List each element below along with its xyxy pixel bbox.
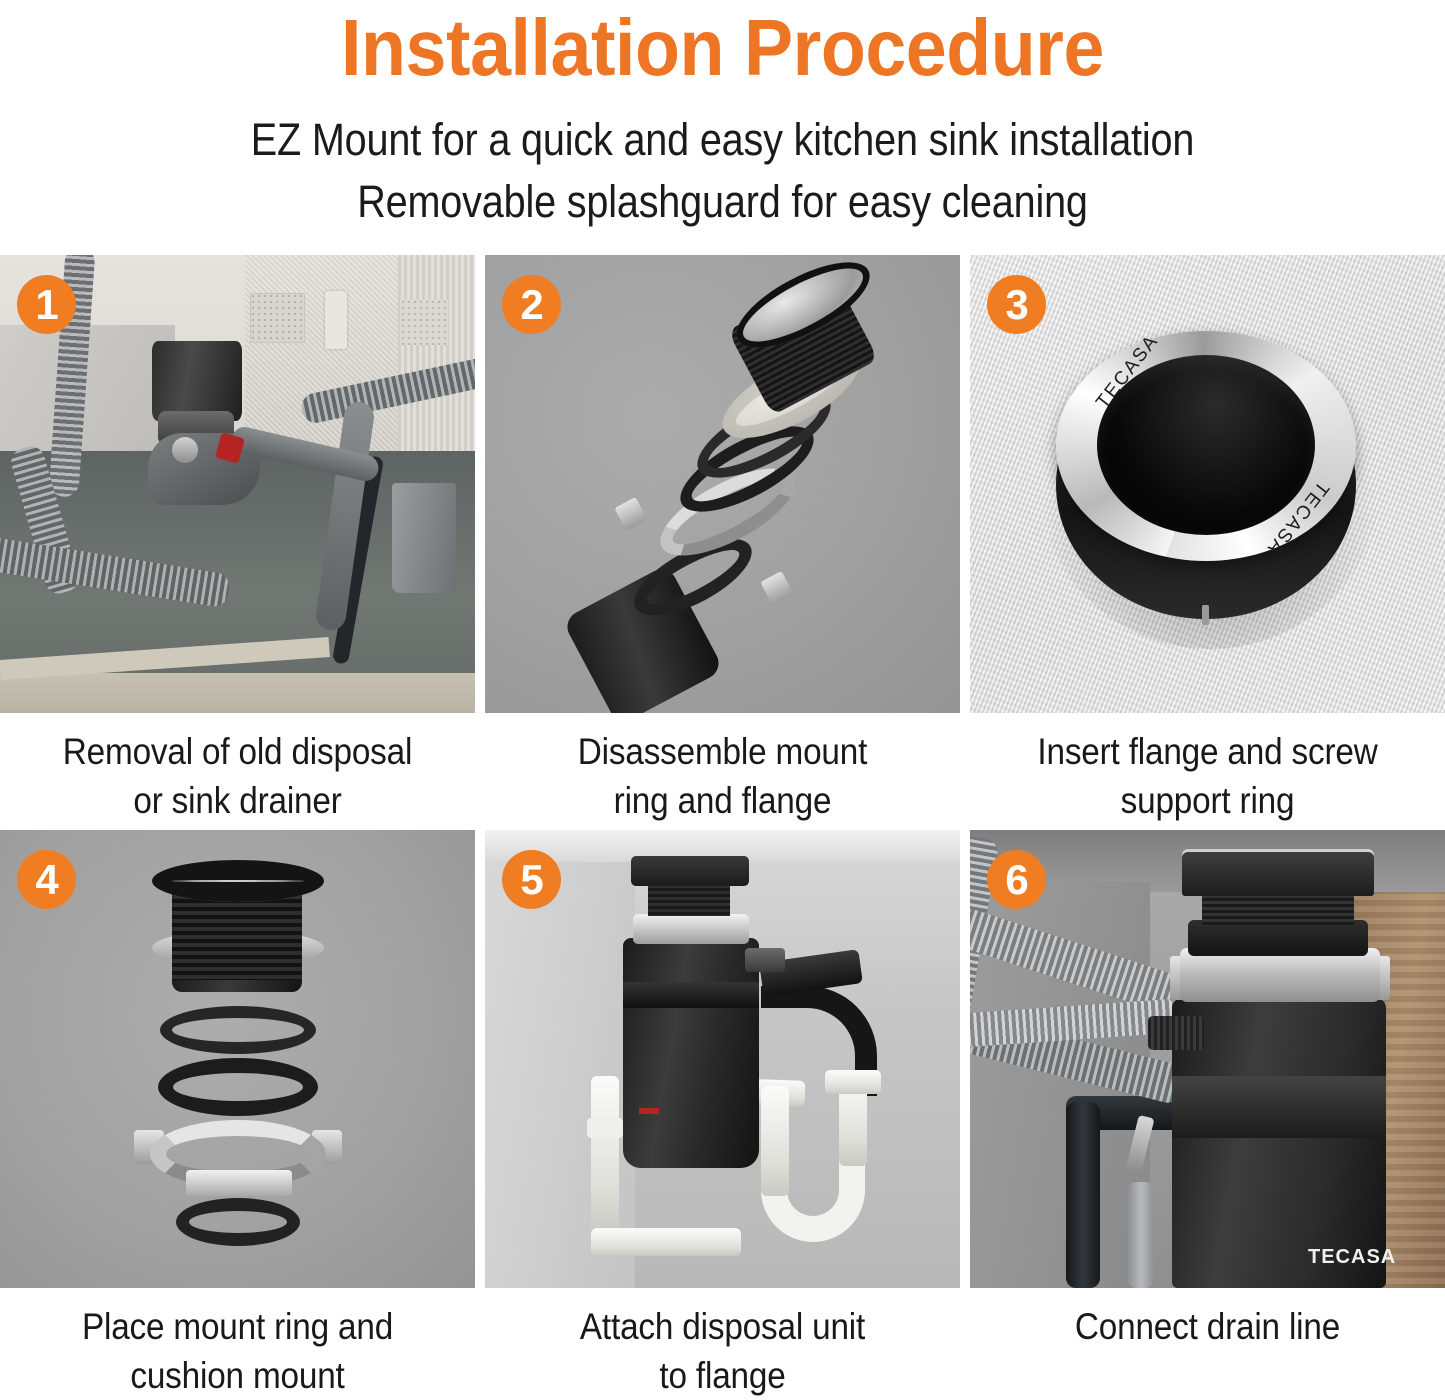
step-caption-3: Insert flange and screw support ring [994, 727, 1422, 825]
photo6-gray-pipe [1128, 1182, 1154, 1288]
photo3-screw [1202, 605, 1209, 625]
photo4-backup-ring [158, 1058, 318, 1116]
step-card-1: 1 Removal of old disposal or sink draine… [0, 255, 475, 830]
header: Installation Procedure EZ Mount for a qu… [0, 0, 1445, 231]
step-photo-2: 2 [485, 255, 960, 713]
subtitle-line-2: Removable splashguard for easy cleaning [87, 173, 1359, 231]
photo6-inlet-port [1148, 1016, 1204, 1050]
step-card-2: 2 Disassemble mount ring and flange [485, 255, 960, 830]
photo5-mount-clamp [633, 914, 749, 944]
photo1-vent-plate-2 [400, 299, 448, 345]
photo1-vent-plate [250, 293, 305, 343]
step-caption-2: Disassemble mount ring and flange [509, 727, 937, 825]
step-photo-4: 4 [0, 830, 475, 1288]
step-card-6: TECASA 6 Connect drain line [970, 830, 1445, 1380]
step-caption-5-line-2: to flange [509, 1351, 937, 1400]
photo5-disposal-outlet [745, 948, 785, 972]
photo5-trap-inlet [761, 1086, 789, 1196]
step-card-3: TECASA TECASA 3 Insert flange and screw … [970, 255, 1445, 830]
step-photo-6: TECASA 6 [970, 830, 1445, 1288]
photo1-old-disposal [152, 341, 242, 421]
photo5-white-pipe-horizontal [591, 1228, 741, 1256]
step-badge-6: 6 [987, 850, 1046, 909]
photo6-thread-section [1202, 892, 1354, 926]
step-photo-3: TECASA TECASA 3 [970, 255, 1445, 713]
step-caption-1-line-2: or sink drainer [24, 776, 452, 825]
photo6-black-pipe-vertical [1066, 1102, 1100, 1288]
photo6-disposal-top-collar [1182, 852, 1374, 896]
photo5-disposal-neck [648, 882, 730, 916]
photo6-brand-label: TECASA [1308, 1246, 1396, 1269]
step-badge-1: 1 [17, 275, 76, 334]
step-badge-3: 3 [987, 275, 1046, 334]
subtitle-line-1: EZ Mount for a quick and easy kitchen si… [87, 111, 1359, 169]
step-caption-1-line-1: Removal of old disposal [63, 731, 412, 772]
step-caption-4-line-2: cushion mount [24, 1351, 452, 1400]
step-photo-5: 5 [485, 830, 960, 1288]
photo5-disposal-top-collar [631, 856, 749, 886]
photo1-bucket [392, 483, 456, 593]
photo6-disposal-body [1172, 998, 1386, 1288]
step-badge-2: 2 [502, 275, 561, 334]
photo1-wood-base [0, 673, 475, 713]
step-photo-1: 1 [0, 255, 475, 713]
step-caption-5-line-1: Attach disposal unit [580, 1306, 865, 1347]
photo6-mount-ring [1180, 948, 1380, 1002]
step-badge-5: 5 [502, 850, 561, 909]
page-title: Installation Procedure [58, 2, 1387, 94]
step-caption-2-line-2: ring and flange [509, 776, 937, 825]
photo5-pipe-collar [587, 1118, 623, 1138]
photo6-disposal-band [1172, 1076, 1386, 1138]
step-caption-5: Attach disposal unit to flange [509, 1302, 937, 1400]
step-badge-4: 4 [17, 850, 76, 909]
photo4-cushion-mount [176, 1198, 300, 1246]
photo5-trap-coupling [825, 1070, 881, 1094]
photo5-disposal-ridge [623, 982, 759, 1008]
step-caption-3-line-2: support ring [994, 776, 1422, 825]
steps-grid: 1 Removal of old disposal or sink draine… [0, 255, 1445, 1380]
step-caption-1: Removal of old disposal or sink drainer [24, 727, 452, 825]
step-caption-6: Connect drain line [994, 1302, 1422, 1351]
step-card-5: 5 Attach disposal unit to flange [485, 830, 960, 1380]
photo1-cable-tie [325, 291, 347, 349]
photo4-flange-rim [152, 860, 324, 902]
photo4-snap-ring-bar [186, 1170, 292, 1196]
photo5-white-pipe-vertical [591, 1076, 619, 1236]
step-caption-4-line-1: Place mount ring and [82, 1306, 393, 1347]
photo4-fiber-gasket [160, 1006, 316, 1054]
photo5-red-label [639, 1108, 659, 1114]
photo1-hose-clamp [172, 437, 198, 463]
step-caption-2-line-1: Disassemble mount [578, 731, 867, 772]
step-caption-4: Place mount ring and cushion mount [24, 1302, 452, 1400]
photo5-disposal-body [623, 938, 759, 1168]
step-caption-6-line-1: Connect drain line [1075, 1306, 1340, 1347]
step-caption-3-line-1: Insert flange and screw [1037, 731, 1377, 772]
step-card-4: 4 Place mount ring and cushion mount [0, 830, 475, 1380]
